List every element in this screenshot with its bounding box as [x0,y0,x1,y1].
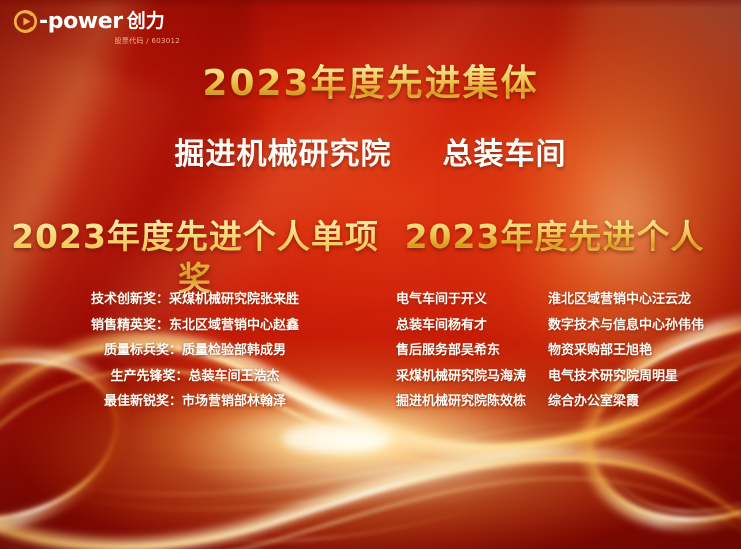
award-poster: -power 创力 股票代码 / 603012 2023年度先进集体 掘进机械研… [0,0,741,549]
poster-content: 2023年度先进集体 掘进机械研究院 总装车间 2023年度先进个人单项奖 20… [0,0,741,549]
table-row: 掘进机械研究院陈效栋 综合办公室梁霞 [396,389,727,415]
winners-lists: 技术创新奖：采煤机械研究院张来胜 销售精英奖：东北区域营销中心赵鑫 质量标兵奖：… [0,287,741,415]
table-row: 售后服务部吴希东 物资采购部王旭艳 [396,338,727,364]
table-row: 电气车间于开义 淮北区域营销中心汪云龙 [396,287,727,313]
winner-name: 掘进机械研究院陈效栋 [396,389,548,415]
collective-winners: 掘进机械研究院 总装车间 [0,135,741,175]
list-item: 最佳新锐奖：市场营销部林翰泽 [104,389,286,415]
single-award-list: 技术创新奖：采煤机械研究院张来胜 销售精英奖：东北区域营销中心赵鑫 质量标兵奖：… [0,287,390,415]
page-title: 2023年度先进集体 [0,62,741,106]
winner-name: 电气车间于开义 [396,287,548,313]
list-item: 生产先锋奖：总装车间王浩杰 [110,364,279,390]
list-item: 销售精英奖：东北区域营销中心赵鑫 [91,313,299,339]
list-item: 技术创新奖：采煤机械研究院张来胜 [91,287,299,313]
winner-name: 总装车间杨有才 [396,313,548,339]
winner-name: 售后服务部吴希东 [396,338,548,364]
winner-name: 物资采购部王旭艳 [548,338,727,364]
winner-name: 采煤机械研究院马海涛 [396,364,548,390]
advanced-individual-list: 电气车间于开义 淮北区域营销中心汪云龙 总装车间杨有才 数字技术与信息中心孙伟伟… [390,287,741,415]
list-item: 质量标兵奖：质量检验部韩成男 [104,338,286,364]
table-row: 采煤机械研究院马海涛 电气技术研究院周明星 [396,364,727,390]
winner-name: 淮北区域营销中心汪云龙 [548,287,727,313]
collective-winner-1: 掘进机械研究院 [175,137,392,172]
table-row: 总装车间杨有才 数字技术与信息中心孙伟伟 [396,313,727,339]
winner-name: 电气技术研究院周明星 [548,364,727,390]
winner-name: 综合办公室梁霞 [548,389,727,415]
heading-advanced-individuals: 2023年度先进个人 [390,216,741,258]
collective-winner-2: 总装车间 [442,137,566,172]
winner-name: 数字技术与信息中心孙伟伟 [548,313,727,339]
